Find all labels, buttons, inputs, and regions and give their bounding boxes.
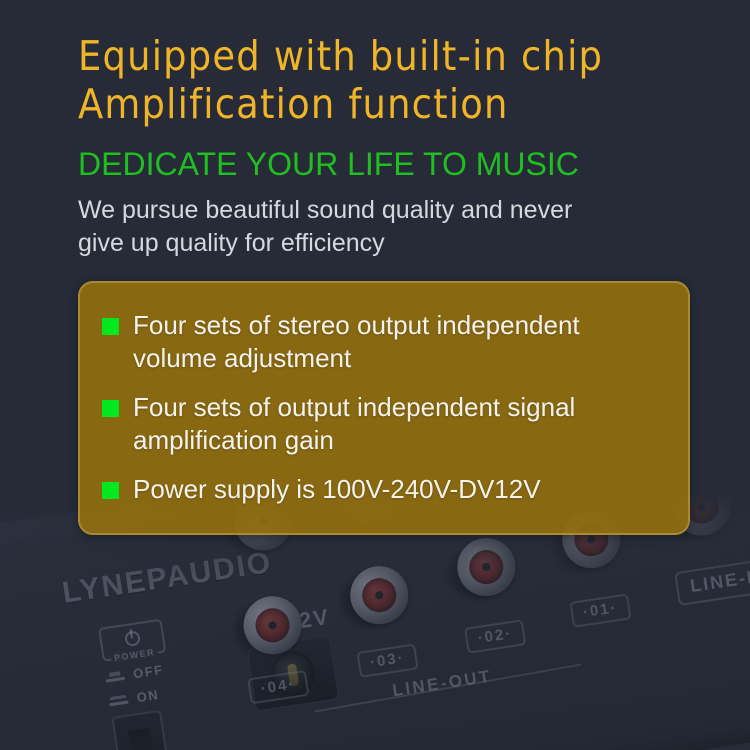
feature-item-2: Four sets of output independent signal a… — [102, 391, 668, 457]
bullet-square-icon — [102, 482, 119, 499]
lede-paragraph: We pursue beautiful sound quality and ne… — [78, 194, 708, 260]
feature-text-1: Four sets of stereo output independent v… — [133, 309, 580, 375]
feature-box: Four sets of stereo output independent v… — [78, 281, 690, 535]
banner-stage: DISTRIBUTOR LYNEPAUDIO LYNEPAUDIO POWER … — [0, 0, 750, 750]
feature-item-1: Four sets of stereo output independent v… — [102, 309, 668, 375]
bullet-square-icon — [102, 400, 119, 417]
subtitle: DEDICATE YOUR LIFE TO MUSIC — [78, 145, 579, 183]
headline: Equipped with built-in chip Amplificatio… — [78, 32, 718, 128]
feature-text-3: Power supply is 100V-240V-DV12V — [133, 473, 541, 506]
banner-content: Equipped with built-in chip Amplificatio… — [0, 0, 750, 750]
feature-list: Four sets of stereo output independent v… — [102, 309, 668, 506]
feature-item-3: Power supply is 100V-240V-DV12V — [102, 473, 668, 506]
feature-text-2: Four sets of output independent signal a… — [133, 391, 575, 457]
bullet-square-icon — [102, 318, 119, 335]
